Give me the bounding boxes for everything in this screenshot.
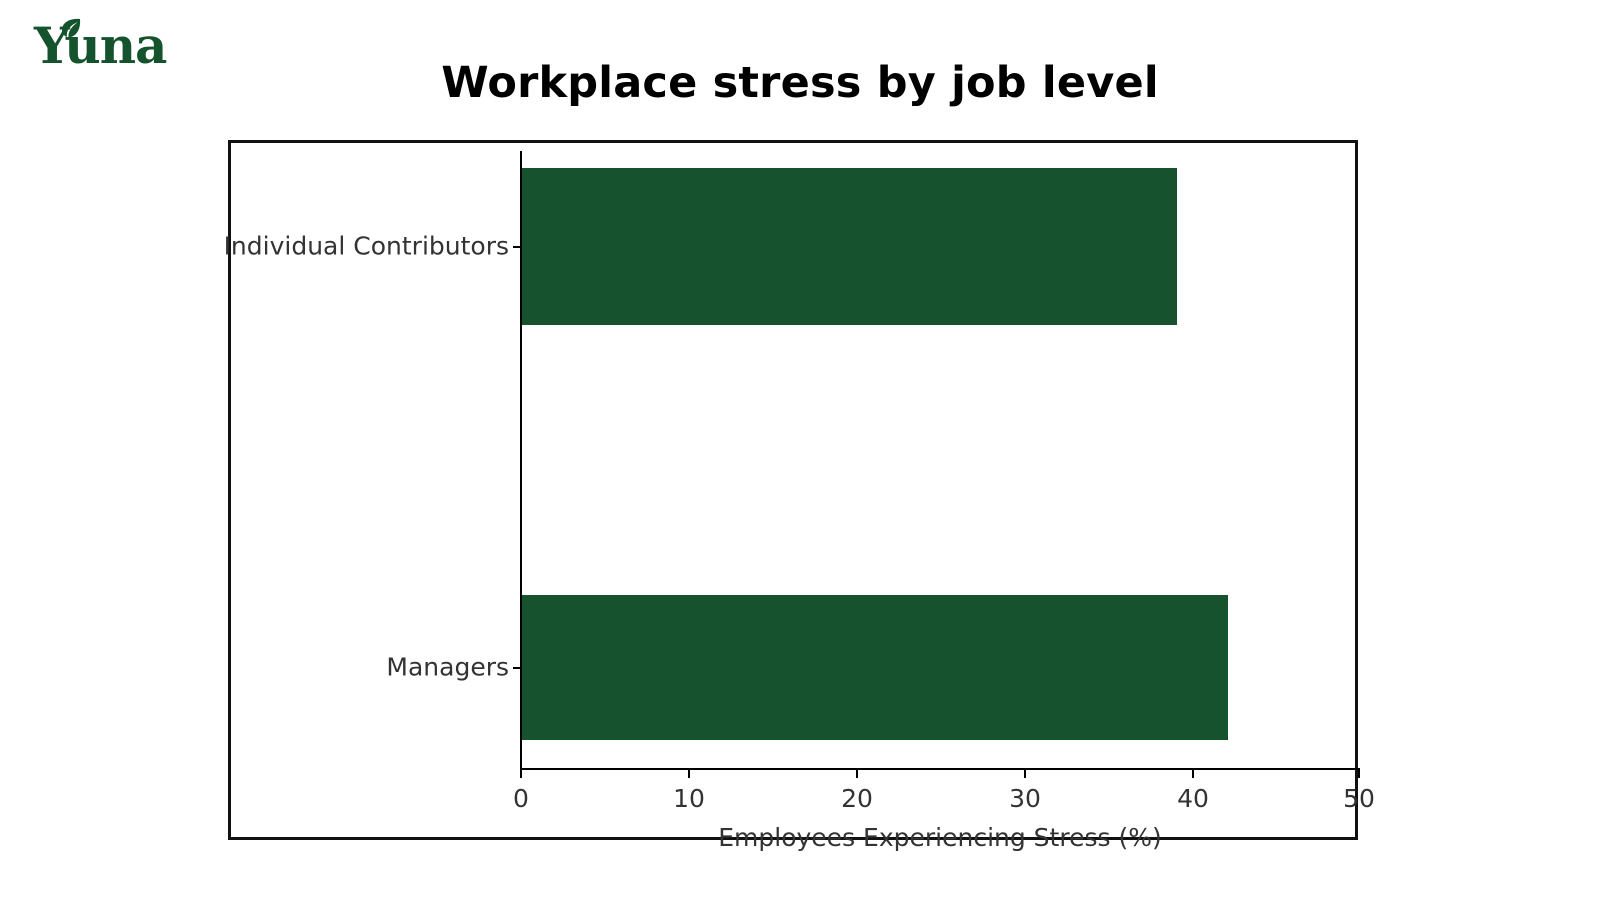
chart-plot-area: Individual Contributors Managers 0 10 20… [520,151,1360,768]
x-tick-label-10: 10 [673,784,705,813]
x-tick-label-40: 40 [1177,784,1209,813]
x-tick-label-0: 0 [513,784,529,813]
x-tick-label-50: 50 [1343,784,1375,813]
y-tick-mark [513,667,520,669]
y-tick-label-individual-contributors: Individual Contributors [224,232,509,261]
chart-figure: Individual Contributors Managers 0 10 20… [228,140,1358,840]
x-tick-mark-0 [520,770,522,778]
x-tick-mark-50 [1358,770,1360,778]
x-tick-mark-20 [856,770,858,778]
bar-individual-contributors [522,168,1177,325]
y-tick-label-managers: Managers [386,653,509,682]
x-tick-mark-40 [1192,770,1194,778]
x-axis-spine [520,768,1360,770]
bar-managers [522,595,1228,740]
y-tick-mark [513,246,520,248]
leaf-icon [59,18,81,40]
chart-title: Workplace stress by job level [0,58,1600,108]
x-tick-mark-30 [1024,770,1026,778]
x-tick-mark-10 [688,770,690,778]
x-tick-label-30: 30 [1009,784,1041,813]
x-tick-label-20: 20 [841,784,873,813]
x-axis-label: Employees Experiencing Stress (%) [520,823,1360,852]
